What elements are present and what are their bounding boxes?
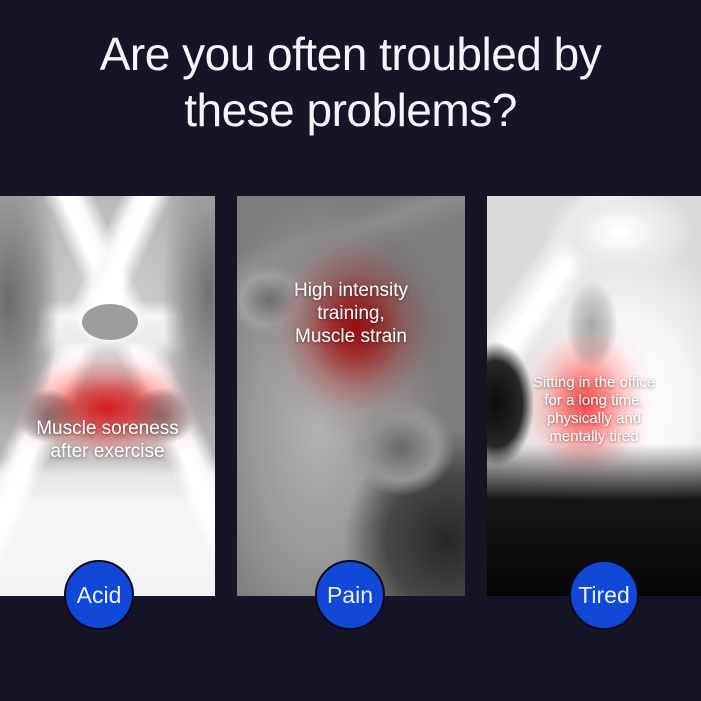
- page-title: Are you often troubled by these problems…: [0, 26, 701, 138]
- problem-panels: Muscle soreness after exercise High inte…: [0, 196, 701, 596]
- problem-panel-tired[interactable]: Sitting in the office for a long time, p…: [487, 196, 701, 596]
- problem-panel-acid[interactable]: Muscle soreness after exercise: [0, 196, 215, 596]
- badge-acid[interactable]: Acid: [64, 560, 134, 630]
- panel-caption-tired: Sitting in the office for a long time, p…: [487, 374, 701, 446]
- panel-caption-acid: Muscle soreness after exercise: [0, 418, 215, 464]
- shoulder-arm-strain-photo: [237, 196, 465, 596]
- woman-lower-back-pain-photo: [0, 196, 215, 596]
- problem-panel-pain[interactable]: High intensity training, Muscle strain: [237, 196, 465, 596]
- promo-poster: Are you often troubled by these problems…: [0, 0, 701, 701]
- badge-tired[interactable]: Tired: [569, 560, 639, 630]
- badge-pain[interactable]: Pain: [315, 560, 385, 630]
- panel-caption-pain: High intensity training, Muscle strain: [237, 280, 465, 348]
